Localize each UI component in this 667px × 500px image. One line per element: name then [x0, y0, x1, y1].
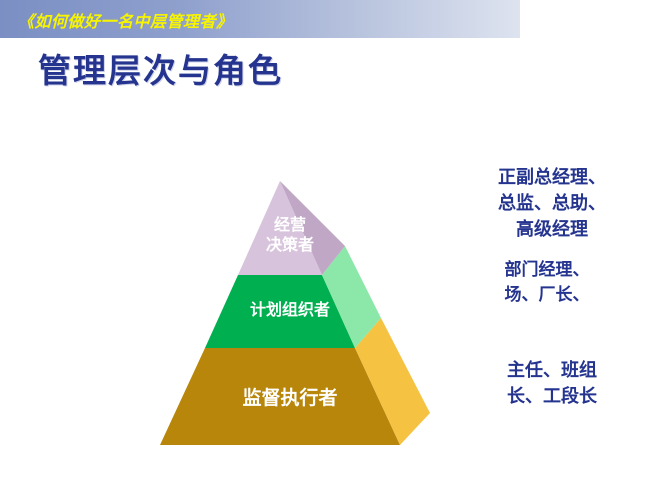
- annotation-top-roles: 正副总经理、 总监、总助、 高级经理: [452, 165, 652, 243]
- annotation-bottom-roles: 主任、班组 长、工段长: [452, 358, 652, 410]
- header-band: 《如何做好一名中层管理者》: [0, 0, 520, 38]
- annotation-middle-roles: 部门经理、 场、厂长、: [452, 258, 642, 307]
- pyramid-diagram: 经营 决策者 计划组织者 监督执行者: [150, 155, 450, 455]
- header-title: 《如何做好一名中层管理者》: [18, 8, 233, 32]
- page-title: 管理层次与角色: [38, 44, 283, 92]
- pyramid-svg: [150, 155, 450, 455]
